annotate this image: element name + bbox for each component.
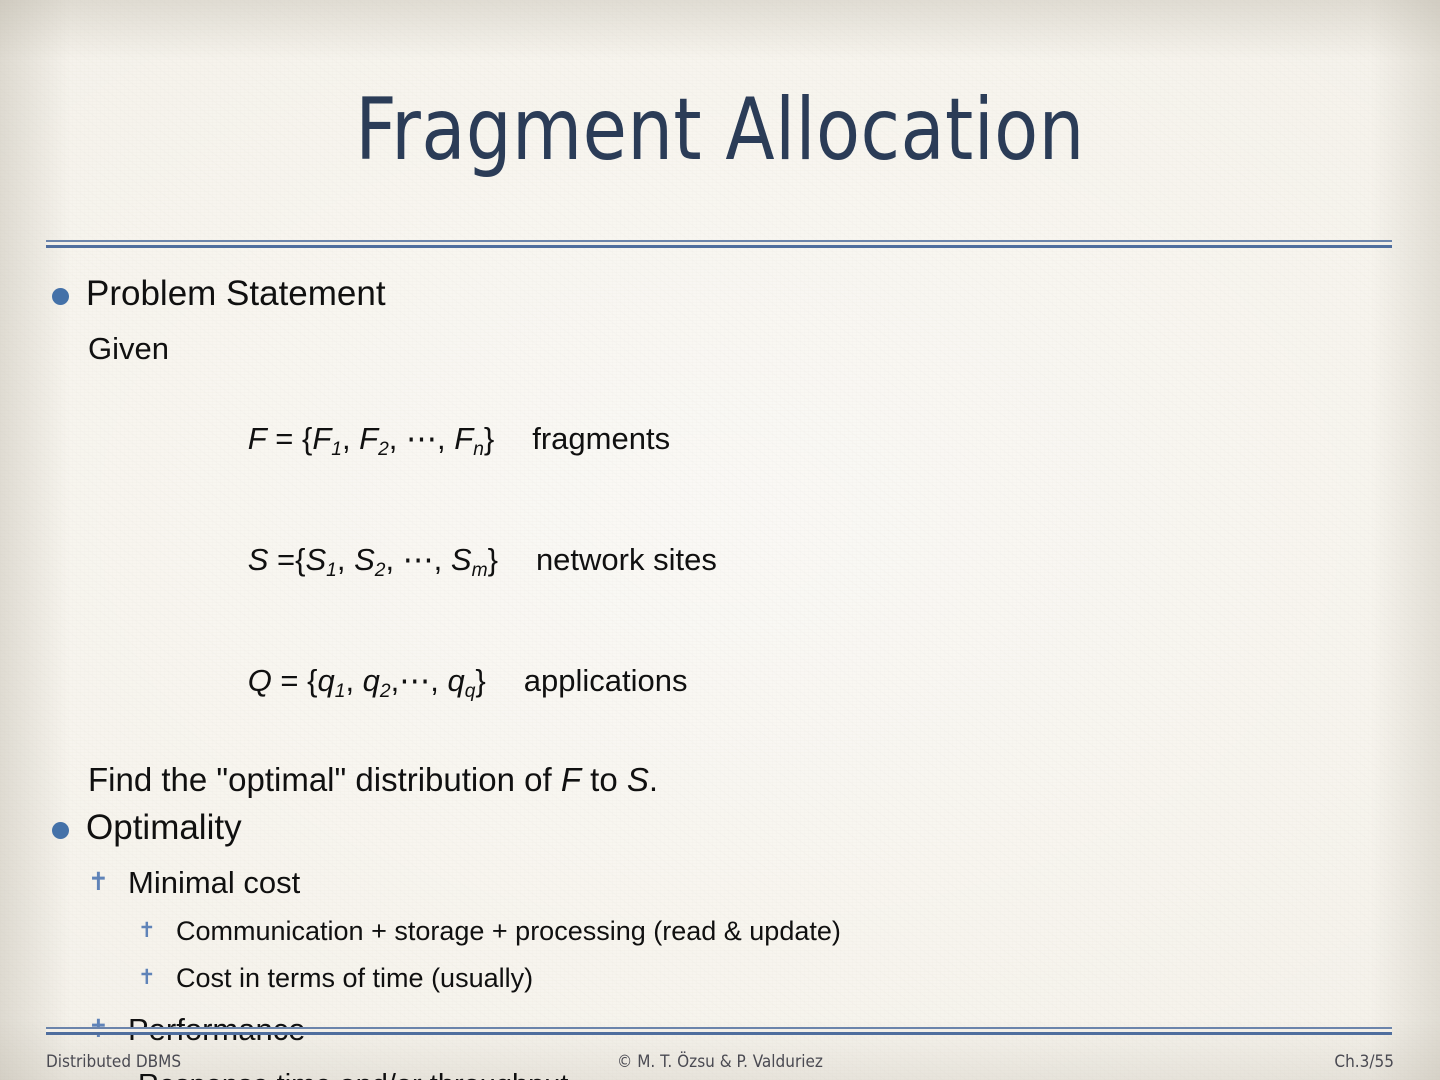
formula-elem-2-sub: 2 xyxy=(375,560,386,581)
bullet-communication-storage-processing: ✝ Communication + storage + processing (… xyxy=(46,918,1406,945)
bullet-minimal-cost: ✝ Minimal cost xyxy=(46,867,1406,898)
bullet-cost-in-terms-of-time: ✝ Cost in terms of time (usually) xyxy=(46,965,1406,992)
formula-elem-n: q xyxy=(447,663,464,698)
footer-copyright-text: © M. T. Özsu & P. Valduriez xyxy=(46,1052,1394,1072)
formula-elem-1: S xyxy=(305,542,326,577)
formula-close: } xyxy=(488,542,498,577)
formula-elem-2-sub: 2 xyxy=(380,681,391,702)
formula-elem-1-sub: 1 xyxy=(331,439,342,460)
formula-description: applications xyxy=(524,663,688,698)
find-line-part1: Find the "optimal" distribution of xyxy=(88,761,561,798)
formula-fragments: F = {F1, F2, ⋯, Fn}fragments xyxy=(46,392,1406,485)
slide-title: Fragment Allocation xyxy=(50,86,1389,175)
slide-footer: Distributed DBMS © M. T. Özsu & P. Valdu… xyxy=(46,1052,1394,1078)
formula-sep-2: , ⋯, xyxy=(389,421,454,456)
formula-elem-2: F xyxy=(359,421,378,456)
formula-close: } xyxy=(475,663,485,698)
formula-elem-n: F xyxy=(454,421,473,456)
find-line-var-f: F xyxy=(561,761,581,798)
dot-bullet-icon xyxy=(52,288,69,305)
bullet-label: Problem Statement xyxy=(86,274,386,313)
bullet-label: Optimality xyxy=(86,808,242,847)
formula-lhs: Q xyxy=(248,663,272,698)
footer-divider-rule xyxy=(46,1027,1392,1035)
formula-elem-n-sub: m xyxy=(472,560,488,581)
bullet-label: Cost in terms of time (usually) xyxy=(176,963,533,993)
formula-lhs: F xyxy=(248,421,267,456)
bullet-label: Minimal cost xyxy=(128,865,300,900)
formula-applications: Q = {q1, q2,⋯, qq}applications xyxy=(46,634,1406,727)
find-line-var-s: S xyxy=(627,761,649,798)
formula-elem-1-sub: 1 xyxy=(326,560,337,581)
formula-elem-2: S xyxy=(354,542,375,577)
formula-description: network sites xyxy=(536,542,717,577)
slide-body: Problem Statement Given F = {F1, F2, ⋯, … xyxy=(46,276,1406,1080)
cross-bullet-icon: ✝ xyxy=(88,869,109,894)
bullet-label: Communication + storage + processing (re… xyxy=(176,916,841,946)
title-divider-rule xyxy=(46,240,1392,248)
formula-elem-2-sub: 2 xyxy=(378,439,389,460)
formula-elem-1: q xyxy=(318,663,335,698)
cross-bullet-icon: ✝ xyxy=(138,967,156,988)
formula-elem-2: q xyxy=(363,663,380,698)
formula-sep-1: , xyxy=(345,663,362,698)
formula-sep-2: ,⋯, xyxy=(391,663,448,698)
formula-network-sites: S ={S1, S2, ⋯, Sm}network sites xyxy=(46,513,1406,606)
rule-line-thick xyxy=(46,1032,1392,1035)
footer-page-number: Ch.3/55 xyxy=(1334,1052,1394,1072)
formula-close: } xyxy=(484,421,494,456)
formula-sep-2: , ⋯, xyxy=(385,542,450,577)
formula-elem-n: S xyxy=(451,542,472,577)
formula-lhs: S xyxy=(248,542,269,577)
find-optimal-line: Find the "optimal" distribution of F to … xyxy=(46,763,1406,796)
slide-canvas: Fragment Allocation Problem Statement Gi… xyxy=(0,0,1440,1080)
formula-eq: = { xyxy=(267,421,313,456)
formula-elem-1-sub: 1 xyxy=(335,681,346,702)
formula-description: fragments xyxy=(532,421,670,456)
dot-bullet-icon xyxy=(52,822,69,839)
rule-line-thick xyxy=(46,245,1392,248)
formula-elem-n-sub: n xyxy=(473,439,484,460)
bullet-optimality: Optimality xyxy=(46,810,1406,845)
find-line-part3: . xyxy=(649,761,658,798)
formula-elem-n-sub: q xyxy=(465,681,476,702)
formula-sep-1: , xyxy=(342,421,359,456)
bullet-problem-statement: Problem Statement xyxy=(46,276,1406,311)
cross-bullet-icon: ✝ xyxy=(138,920,156,941)
formula-eq: = { xyxy=(272,663,318,698)
find-line-part2: to xyxy=(581,761,627,798)
formula-elem-1: F xyxy=(312,421,331,456)
given-label: Given xyxy=(46,333,1406,364)
formula-sep-1: , xyxy=(337,542,354,577)
formula-eq: ={ xyxy=(268,542,305,577)
